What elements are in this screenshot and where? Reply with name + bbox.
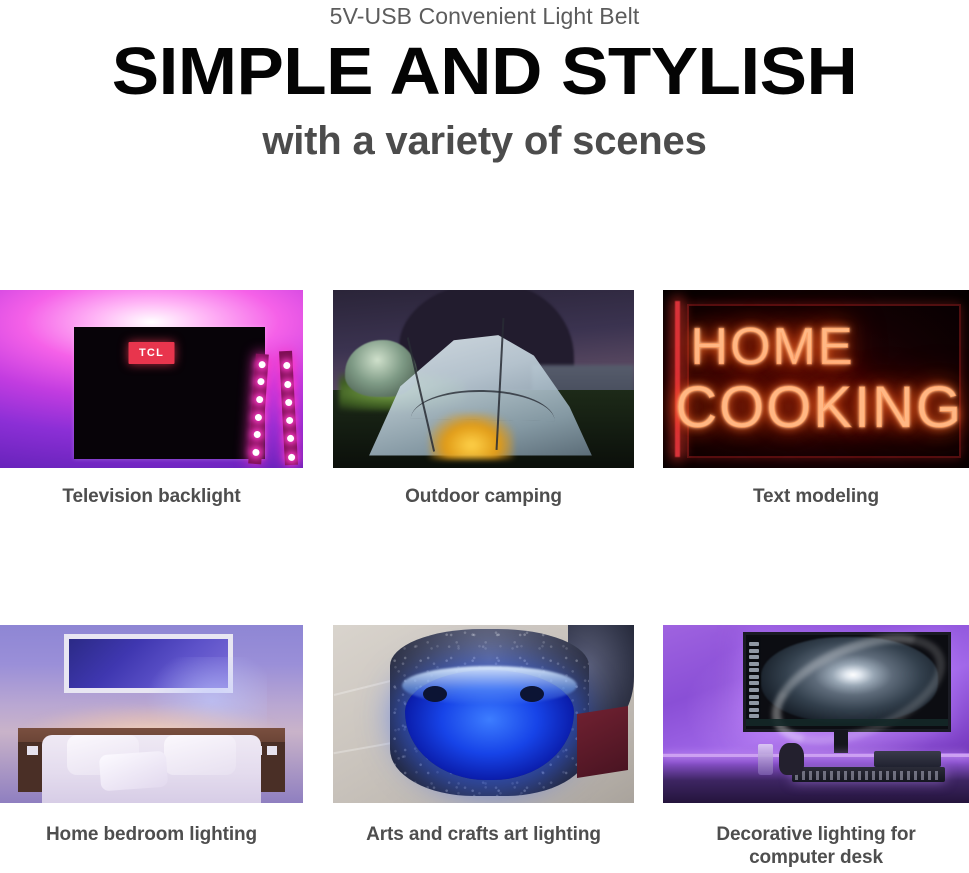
cushion-center xyxy=(99,751,168,791)
scene-caption: Television backlight xyxy=(62,485,240,508)
gallery-row-top: TCL Television backlight xyxy=(0,290,969,530)
gallery-row-bottom: Home bedroom lighting Arts and crafts ar… xyxy=(0,625,969,873)
led-strip-right xyxy=(279,350,298,464)
scene-image-outdoor-camping xyxy=(333,290,634,468)
headset xyxy=(779,743,803,775)
desk-box xyxy=(874,751,941,767)
scene-caption-line-1: Decorative lighting for xyxy=(716,824,915,845)
scene-caption: Arts and crafts art lighting xyxy=(366,823,601,846)
scene-caption: Home bedroom lighting xyxy=(46,823,257,846)
scene-caption: Decorative lighting for computer desk xyxy=(716,823,915,869)
water-bottle xyxy=(758,744,773,774)
tcl-logo-badge: TCL xyxy=(128,342,175,364)
scene-caption: Text modeling xyxy=(753,485,879,508)
side-panel xyxy=(577,706,628,778)
bowl-notch-right xyxy=(520,686,544,702)
page-subtitle: with a variety of scenes xyxy=(0,118,969,164)
wall-switch xyxy=(267,746,277,755)
scene-card-arts-and-crafts-lighting[interactable]: Arts and crafts art lighting xyxy=(333,625,634,873)
page-title: SIMPLE AND STYLISH xyxy=(0,36,969,108)
keyboard-keys xyxy=(795,771,942,780)
product-eyebrow-text: 5V-USB Convenient Light Belt xyxy=(0,2,969,30)
neon-text-line-1: HOME xyxy=(691,317,969,377)
pillow-right xyxy=(164,735,237,774)
scene-image-computer-desk xyxy=(663,625,969,803)
scene-card-television-backlight[interactable]: TCL Television backlight xyxy=(0,290,303,530)
floor-tile-line xyxy=(334,678,399,696)
scene-caption: Outdoor camping xyxy=(405,485,562,508)
promo-header: 5V-USB Convenient Light Belt SIMPLE AND … xyxy=(0,0,969,164)
scene-image-arts-crafts xyxy=(333,625,634,803)
wall-switch xyxy=(27,746,37,755)
scene-card-outdoor-camping[interactable]: Outdoor camping xyxy=(333,290,634,530)
scene-image-neon-sign: HOME COOKING xyxy=(663,290,969,468)
desktop-taskbar xyxy=(746,719,948,725)
scene-gallery-grid: TCL Television backlight xyxy=(0,290,969,873)
scene-card-computer-desk-lighting[interactable]: Decorative lighting for computer desk xyxy=(663,625,969,873)
neon-text-line-2: COOKING xyxy=(675,374,969,441)
bowl-notch-left xyxy=(423,686,447,702)
scene-caption-line-2: computer desk xyxy=(749,847,883,868)
scene-card-home-bedroom-lighting[interactable]: Home bedroom lighting xyxy=(0,625,303,873)
desktop-sidebar-icons xyxy=(747,637,761,722)
scene-card-text-modeling[interactable]: HOME COOKING Text modeling xyxy=(663,290,969,530)
scene-image-bedroom xyxy=(0,625,303,803)
scene-image-television-backlight: TCL xyxy=(0,290,303,468)
